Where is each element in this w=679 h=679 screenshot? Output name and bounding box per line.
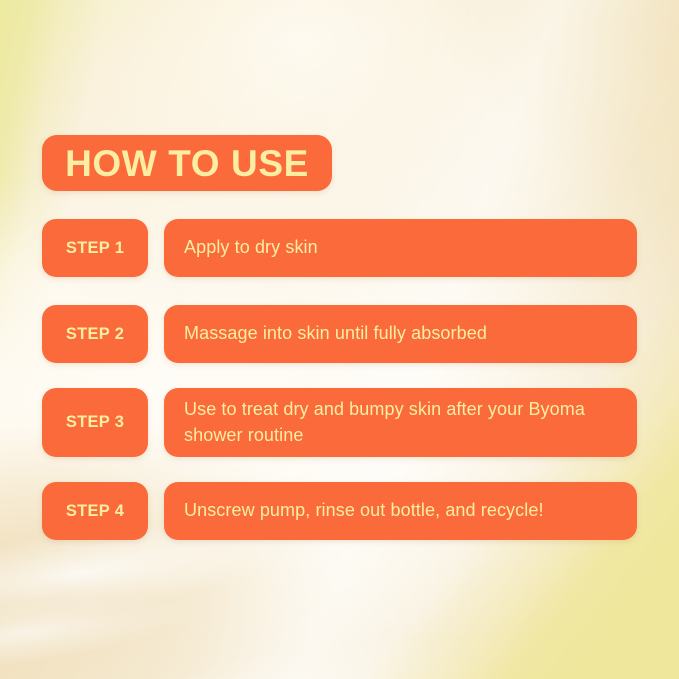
step-label-3: STEP 3 [66,413,124,432]
step-instruction-1: Apply to dry skin [164,219,637,277]
step-text-3: Use to treat dry and bumpy skin after yo… [164,397,637,448]
how-to-use-poster: HOW TO USE STEP 1 Apply to dry skin STEP… [0,0,679,679]
step-text-4: Unscrew pump, rinse out bottle, and recy… [164,498,544,524]
poster-content: HOW TO USE STEP 1 Apply to dry skin STEP… [0,0,679,679]
page-title: HOW TO USE [65,145,309,182]
step-badge-1: STEP 1 [42,219,148,277]
step-instruction-4: Unscrew pump, rinse out bottle, and recy… [164,482,637,540]
step-label-4: STEP 4 [66,502,124,521]
step-label-2: STEP 2 [66,325,124,344]
step-label-1: STEP 1 [66,239,124,258]
step-badge-2: STEP 2 [42,305,148,363]
step-text-2: Massage into skin until fully absorbed [164,321,487,347]
page-title-banner: HOW TO USE [42,135,332,191]
step-badge-4: STEP 4 [42,482,148,540]
step-instruction-3: Use to treat dry and bumpy skin after yo… [164,388,637,457]
step-instruction-2: Massage into skin until fully absorbed [164,305,637,363]
step-badge-3: STEP 3 [42,388,148,457]
step-text-1: Apply to dry skin [164,235,318,261]
